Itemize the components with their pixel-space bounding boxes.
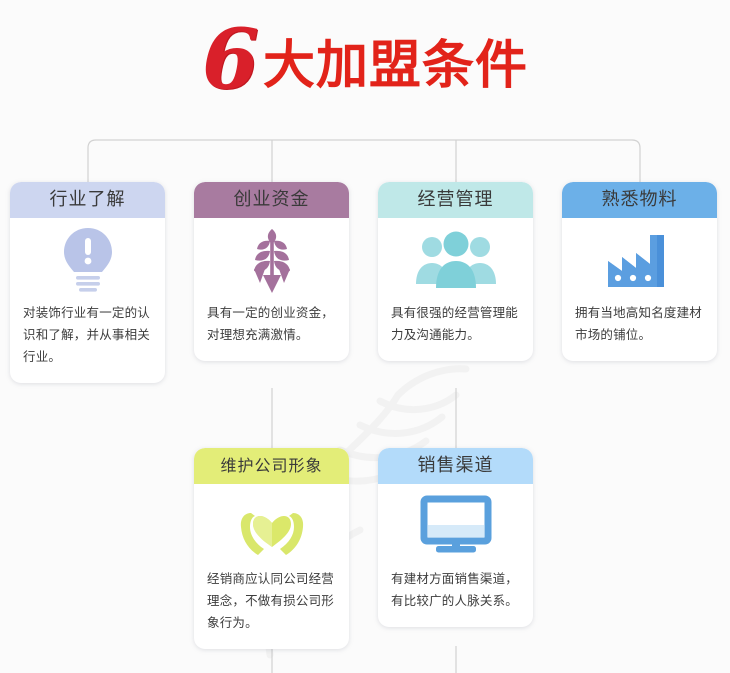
condition-card-brand-image[interactable]: 维护公司形象 经销商应认同公司经营理念，不做有损公司形象行为。 [194, 448, 349, 649]
hands-holding-heart-icon [194, 484, 349, 568]
condition-card-industry-knowledge[interactable]: 行业了解 对装饰行业有一定的认识和了解，并从事相关行业。 [10, 182, 165, 383]
card-header-operations-management: 经营管理 [378, 182, 533, 218]
team-people-icon [378, 218, 533, 302]
condition-card-material-familiarity[interactable]: 熟悉物料 拥有当地高知名度建材市场的铺位。 [562, 182, 717, 361]
card-header-brand-image: 维护公司形象 [194, 448, 349, 484]
card-header-material-familiarity: 熟悉物料 [562, 182, 717, 218]
card-header-sales-channel: 销售渠道 [378, 448, 533, 484]
monitor-icon [378, 484, 533, 568]
condition-card-operations-management[interactable]: 经营管理 具有很强的经营管理能力及沟通能力。 [378, 182, 533, 361]
title-number: 6 [202, 19, 257, 101]
wheat-icon [194, 218, 349, 302]
condition-card-sales-channel[interactable]: 销售渠道 有建材方面销售渠道，有比较广的人脉关系。 [378, 448, 533, 627]
lightbulb-icon [10, 218, 165, 302]
card-body-brand-image: 经销商应认同公司经营理念，不做有损公司形象行为。 [194, 568, 349, 649]
page-title: 6 大加盟条件 [0, 12, 730, 112]
card-body-sales-channel: 有建材方面销售渠道，有比较广的人脉关系。 [378, 568, 533, 627]
card-body-industry-knowledge: 对装饰行业有一定的认识和了解，并从事相关行业。 [10, 302, 165, 383]
card-body-operations-management: 具有很强的经营管理能力及沟通能力。 [378, 302, 533, 361]
card-header-industry-knowledge: 行业了解 [10, 182, 165, 218]
top-bracket-path [88, 140, 640, 182]
card-header-startup-capital: 创业资金 [194, 182, 349, 218]
factory-icon [562, 218, 717, 302]
title-text: 大加盟条件 [263, 40, 528, 92]
card-body-startup-capital: 具有一定的创业资金，对理想充满激情。 [194, 302, 349, 361]
condition-card-startup-capital[interactable]: 创业资金 具有一定的创业资金，对理想充满激情。 [194, 182, 349, 361]
card-body-material-familiarity: 拥有当地高知名度建材市场的铺位。 [562, 302, 717, 361]
